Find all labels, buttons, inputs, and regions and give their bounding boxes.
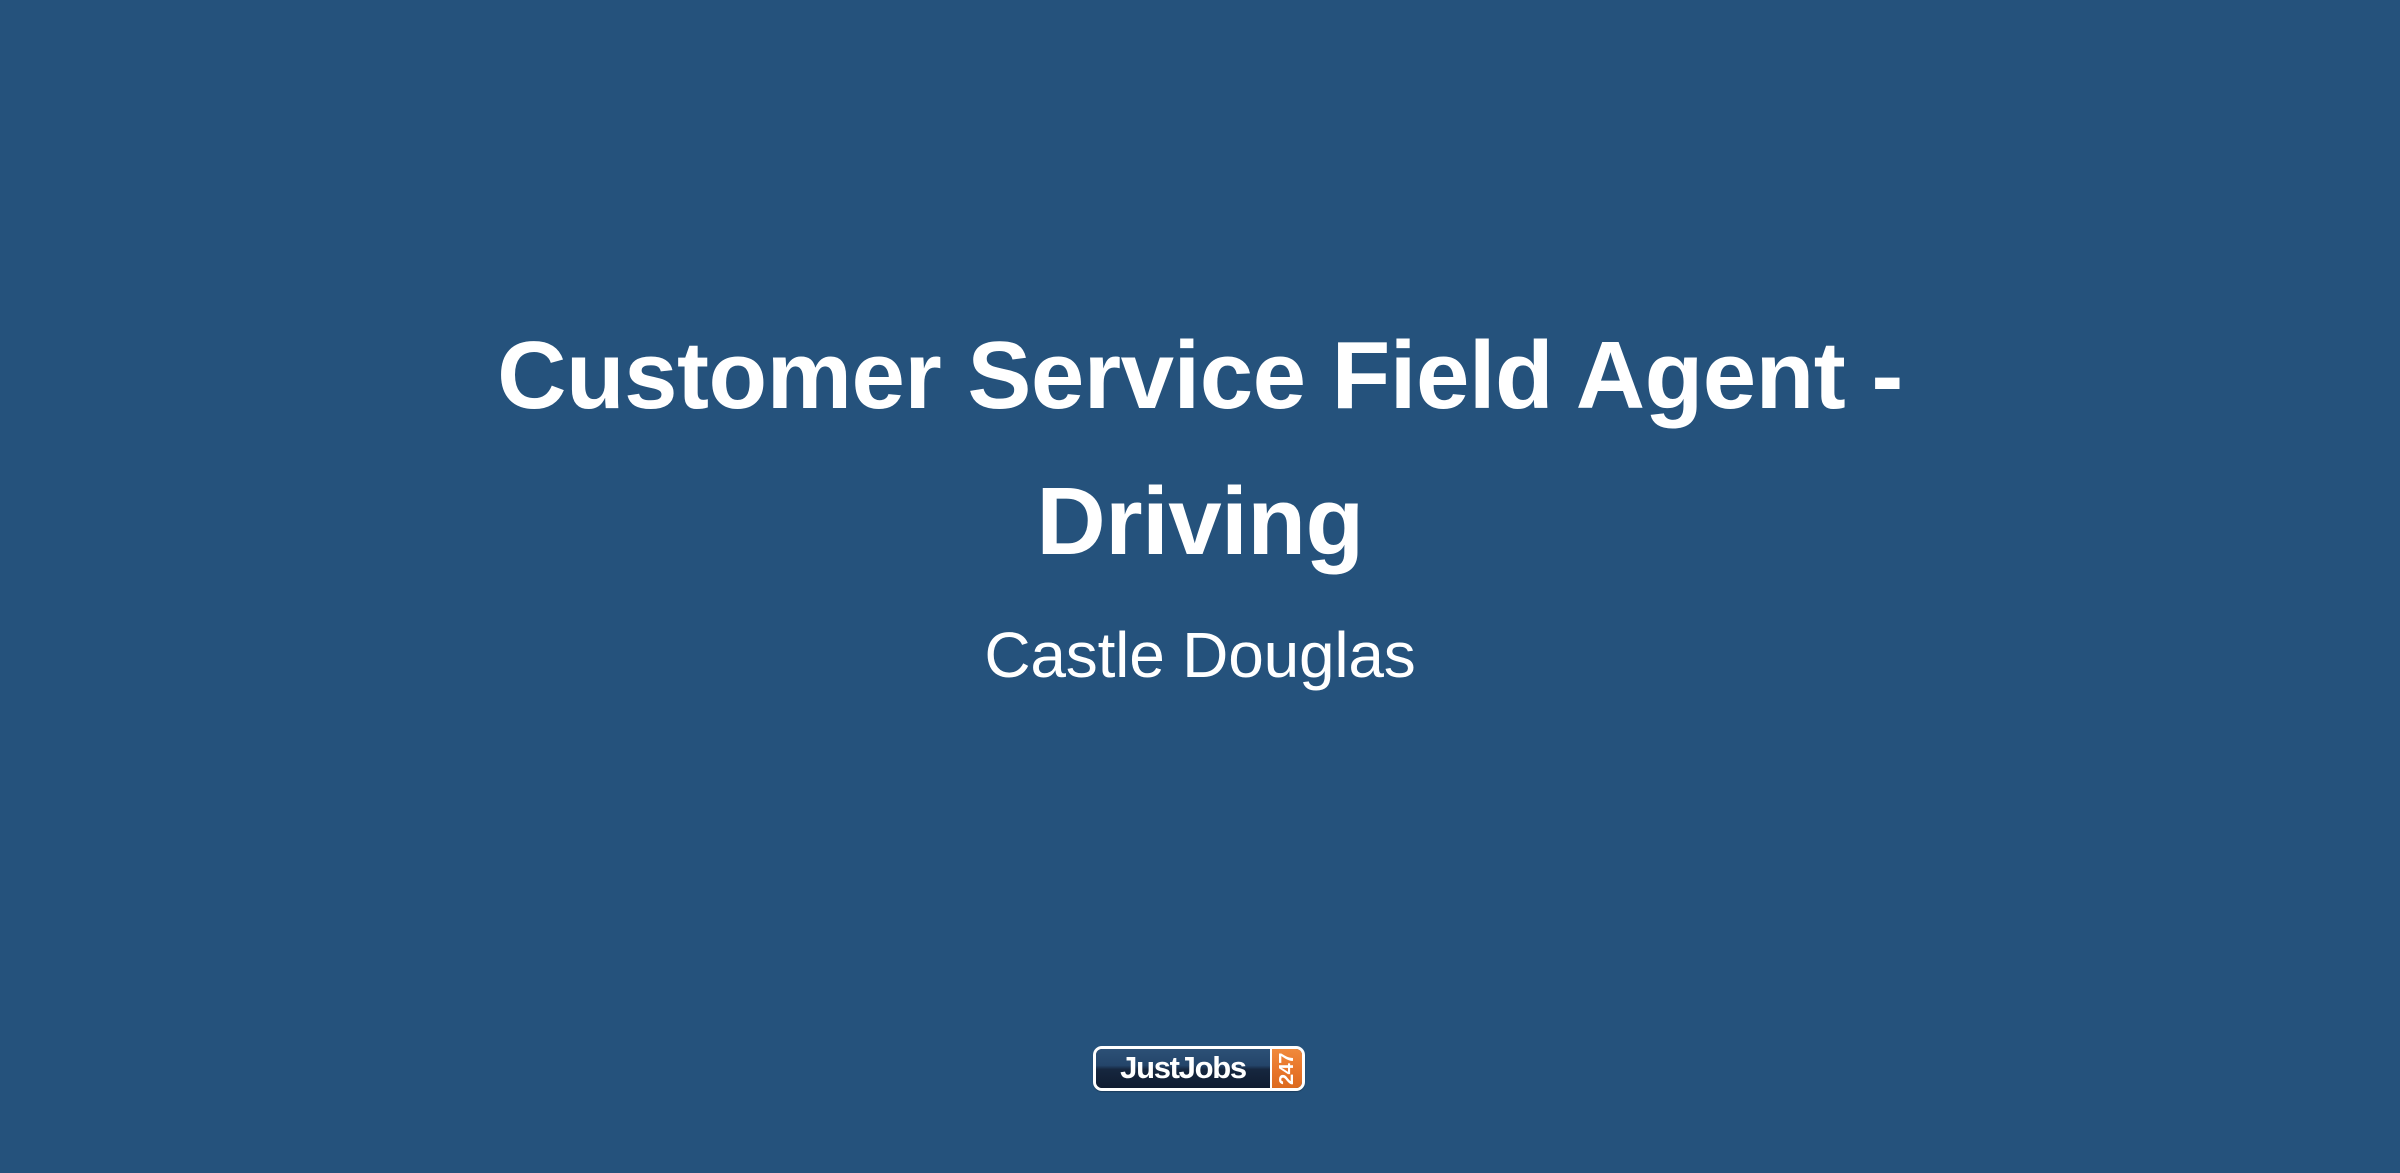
job-location-subtitle: Castle Douglas [300,617,2100,694]
page-title: Customer Service Field Agent - Driving [360,303,2040,595]
logo-wordmark-text: JustJobs [1120,1052,1246,1085]
heading-block: Customer Service Field Agent - Driving C… [0,0,2400,1173]
logo-badge-text: 247 [1277,1053,1297,1085]
logo-wordmark-panel: JustJobs [1096,1049,1270,1088]
job-posting-slide: Customer Service Field Agent - Driving C… [0,0,2400,1173]
logo-badge: 247 [1270,1049,1302,1088]
brand-logo[interactable]: JustJobs 247 [1093,1046,1305,1091]
